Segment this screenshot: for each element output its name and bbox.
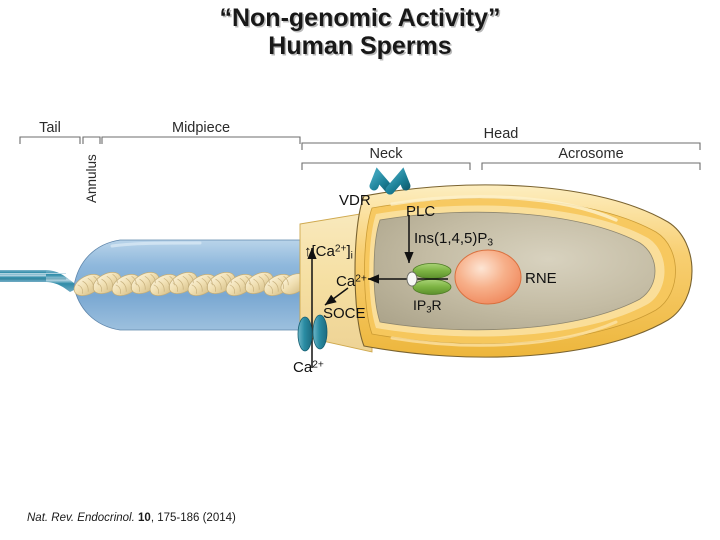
label-ip3r: IP3R (413, 297, 442, 315)
label-calcium-release: Ca2+ (336, 273, 367, 290)
slide-canvas: “Non-genomic Activity” Human Sperms Tail… (0, 0, 720, 540)
sperm-diagram (0, 0, 720, 540)
citation-journal: Nat. Rev. Endocrinol. (27, 512, 135, 524)
label-vdr: VDR (339, 192, 371, 209)
label-calcium-entry: Ca2+ (293, 359, 324, 376)
citation-volume: 10 (138, 512, 151, 524)
label-plc: PLC (406, 203, 435, 220)
label-rne: RNE (525, 270, 557, 287)
label-intracellular-calcium: ↑[Ca2+]i (304, 243, 353, 262)
citation-pages: , 175-186 (2014) (151, 512, 236, 524)
label-ins145p3: Ins(1,4,5)P3 (414, 230, 493, 249)
nucleus (455, 250, 521, 304)
flagellum-tail (0, 270, 74, 292)
label-soce: SOCE (323, 305, 366, 322)
citation: Nat. Rev. Endocrinol. 10, 175-186 (2014) (27, 512, 236, 524)
